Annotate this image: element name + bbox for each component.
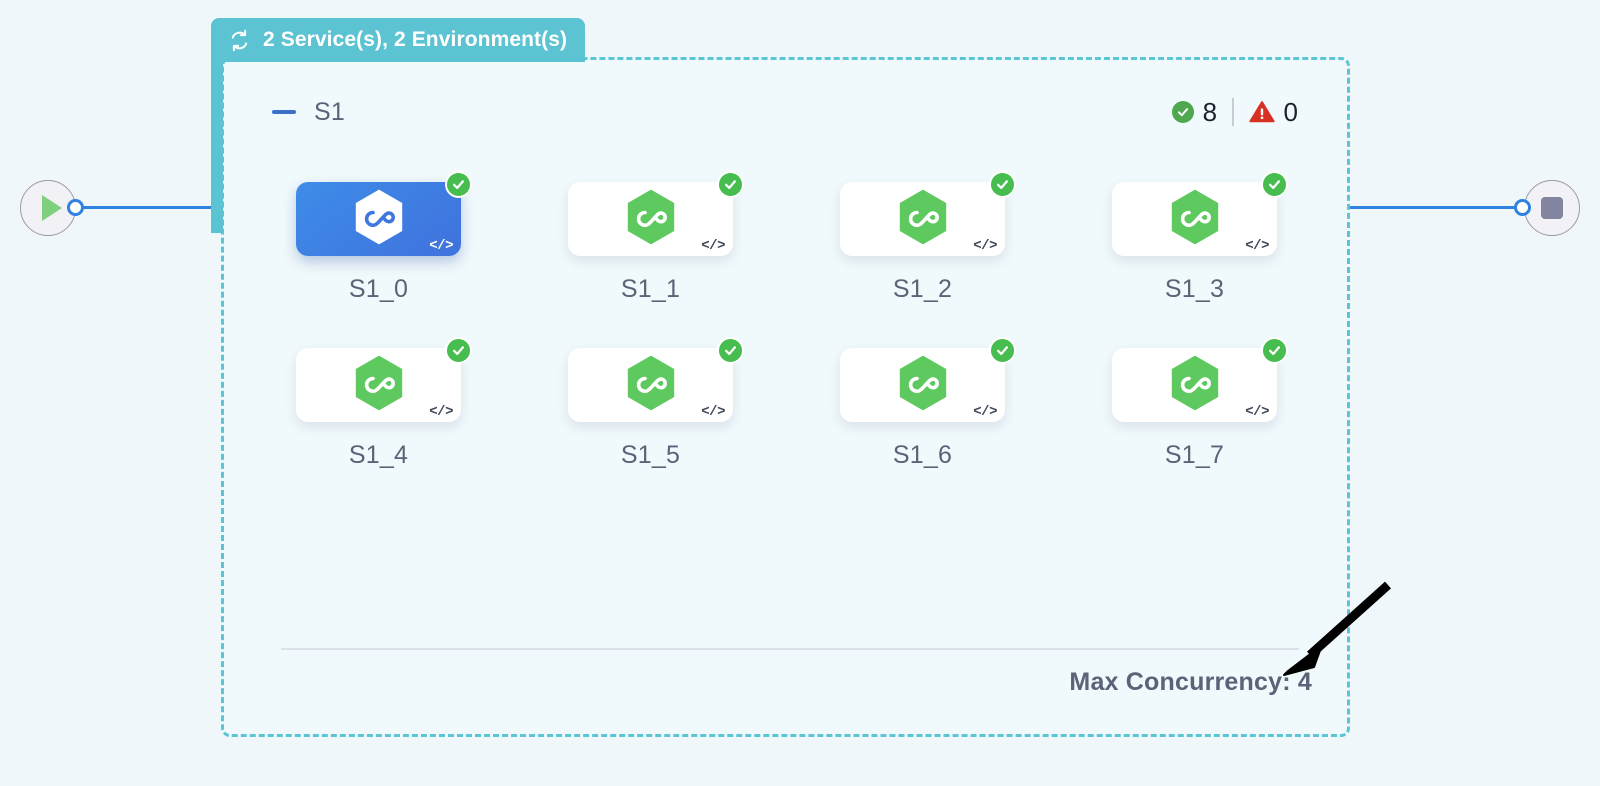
edge-loop-to-end	[1350, 206, 1522, 209]
warning-count: 0	[1284, 97, 1298, 128]
code-glyph-icon: </>	[973, 238, 997, 254]
group-title: S1	[314, 98, 345, 127]
node-label: S1_6	[893, 441, 952, 470]
hexagon-infinity-icon	[1168, 354, 1222, 417]
max-concurrency-label: Max Concurrency: 4	[1069, 668, 1312, 697]
hexagon-infinity-icon	[352, 188, 406, 251]
code-glyph-icon: </>	[973, 404, 997, 420]
hexagon-infinity-icon	[896, 354, 950, 417]
stop-icon	[1541, 197, 1563, 219]
node-cell: </> S1_4	[296, 348, 461, 470]
start-node-handle[interactable]	[67, 199, 84, 216]
hexagon-infinity-icon	[1168, 188, 1222, 251]
end-node[interactable]	[1524, 180, 1580, 236]
node-cell: </> S1_3	[1112, 182, 1277, 304]
node-cell: </> S1_2	[840, 182, 1005, 304]
node-label: S1_5	[621, 441, 680, 470]
node-cell: </> S1_7	[1112, 348, 1277, 470]
check-badge-icon	[1261, 171, 1288, 198]
service-node-card[interactable]: </>	[296, 182, 461, 256]
code-glyph-icon: </>	[1245, 404, 1269, 420]
service-node-card[interactable]: </>	[1112, 348, 1277, 422]
edge-start-to-loop	[80, 206, 223, 209]
service-node-card[interactable]: </>	[568, 348, 733, 422]
success-count: 8	[1203, 97, 1217, 128]
hexagon-infinity-icon	[624, 188, 678, 251]
node-cell: </> S1_1	[568, 182, 733, 304]
node-row: </> S1_0	[296, 182, 1296, 304]
loop-repeat-icon	[227, 28, 252, 53]
footer-divider	[281, 648, 1299, 650]
check-badge-icon	[989, 171, 1016, 198]
node-cell: </> S1_5	[568, 348, 733, 470]
play-icon	[42, 195, 62, 221]
warning-status: 0	[1249, 97, 1298, 128]
hexagon-infinity-icon	[896, 188, 950, 251]
check-badge-icon	[1261, 337, 1288, 364]
service-node-card[interactable]: </>	[840, 182, 1005, 256]
warning-triangle-icon	[1249, 100, 1275, 124]
node-label: S1_1	[621, 275, 680, 304]
check-badge-icon	[989, 337, 1016, 364]
end-node-handle[interactable]	[1514, 199, 1531, 216]
node-label: S1_3	[1165, 275, 1224, 304]
group-header: S1 8 0	[272, 90, 1298, 134]
node-cell: </> S1_0	[296, 182, 461, 304]
loop-group-left-rail	[211, 57, 223, 233]
minus-collapse-icon[interactable]	[272, 110, 296, 114]
check-circle-icon	[1172, 101, 1194, 123]
hexagon-infinity-icon	[624, 354, 678, 417]
check-badge-icon	[717, 337, 744, 364]
status-summary: 8 0	[1172, 97, 1298, 128]
node-row: </> S1_4	[296, 348, 1296, 470]
code-glyph-icon: </>	[429, 238, 453, 254]
node-cell: </> S1_6	[840, 348, 1005, 470]
success-status: 8	[1172, 97, 1217, 128]
flow-canvas[interactable]: 2 Service(s), 2 Environment(s) S1 8	[0, 0, 1600, 786]
node-label: S1_7	[1165, 441, 1224, 470]
code-glyph-icon: </>	[701, 404, 725, 420]
check-badge-icon	[445, 171, 472, 198]
node-label: S1_0	[349, 275, 408, 304]
node-grid: </> S1_0	[296, 182, 1296, 514]
service-node-card[interactable]: </>	[296, 348, 461, 422]
node-label: S1_4	[349, 441, 408, 470]
check-badge-icon	[717, 171, 744, 198]
hexagon-infinity-icon	[352, 354, 406, 417]
node-label: S1_2	[893, 275, 952, 304]
check-badge-icon	[445, 337, 472, 364]
service-node-card[interactable]: </>	[568, 182, 733, 256]
service-node-card[interactable]: </>	[1112, 182, 1277, 256]
code-glyph-icon: </>	[1245, 238, 1269, 254]
loop-group-tab-label: 2 Service(s), 2 Environment(s)	[263, 28, 567, 52]
status-divider	[1232, 98, 1234, 126]
code-glyph-icon: </>	[429, 404, 453, 420]
code-glyph-icon: </>	[701, 238, 725, 254]
loop-group-tab[interactable]: 2 Service(s), 2 Environment(s)	[211, 18, 585, 62]
service-node-card[interactable]: </>	[840, 348, 1005, 422]
